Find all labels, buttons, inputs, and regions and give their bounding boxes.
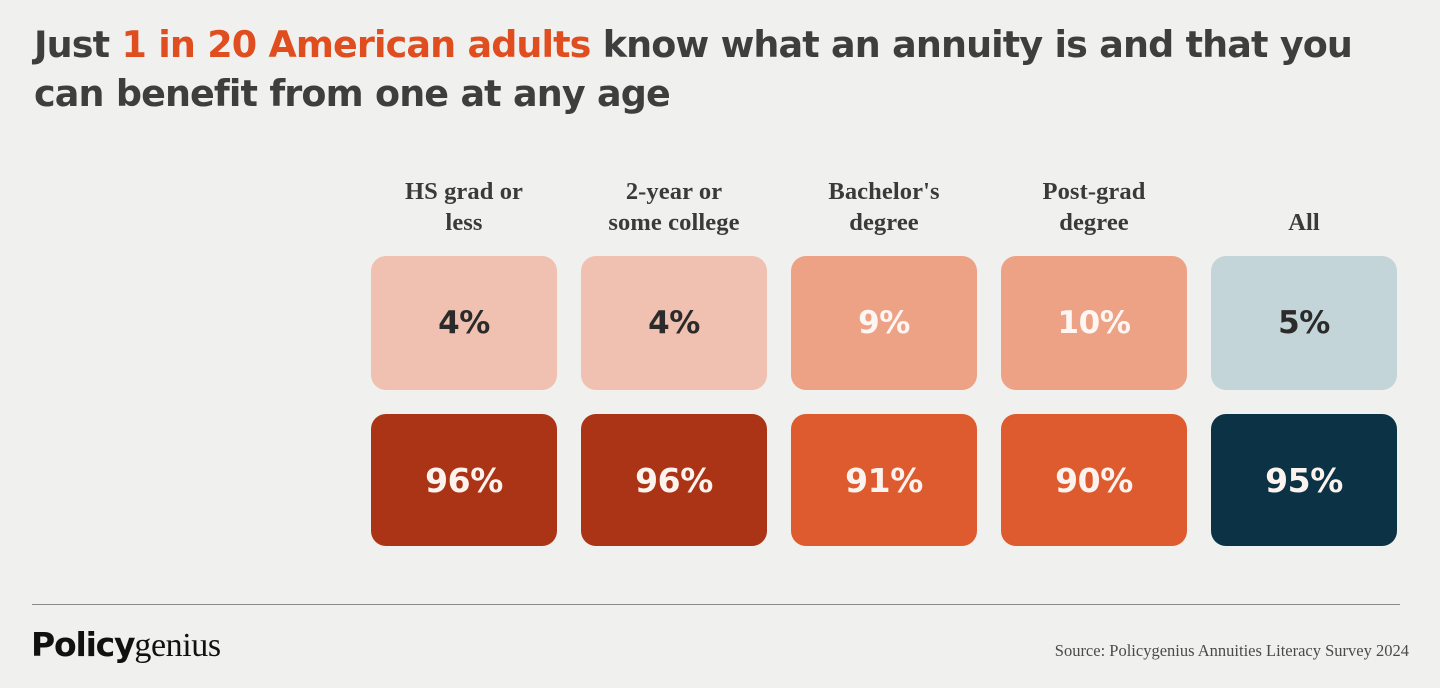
cell-correct-all[interactable]: 5% — [1211, 256, 1397, 390]
column-header-line-2: degree — [1001, 207, 1187, 238]
cell-correct-2-year-or-some-college[interactable]: 4% — [581, 256, 767, 390]
cell-value: 4% — [648, 305, 700, 341]
cell-value: 96% — [425, 461, 503, 500]
cell-value: 96% — [635, 461, 713, 500]
cell-incorrect-post-grad-degree[interactable]: 90% — [1001, 414, 1187, 546]
cell-incorrect-bachelors-degree[interactable]: 91% — [791, 414, 977, 546]
column-header-post-grad-degree: Post-grad degree — [1001, 176, 1187, 238]
policygenius-logo[interactable]: Policygenius — [31, 625, 221, 665]
page-title: Just 1 in 20 American adults know what a… — [34, 20, 1409, 118]
cell-value: 5% — [1278, 305, 1330, 341]
column-header-line-1: Bachelor's — [791, 176, 977, 207]
source-attribution: Source: Policygenius Annuities Literacy … — [1055, 641, 1409, 661]
column-header-line-2: some college — [581, 207, 767, 238]
infographic-canvas: Just 1 in 20 American adults know what a… — [0, 0, 1440, 688]
data-row-incorrect: 96% 96% 91% 90% 95% — [371, 414, 1400, 546]
column-header-line-1: All — [1211, 207, 1397, 238]
column-header-line-2: less — [371, 207, 557, 238]
cell-incorrect-all[interactable]: 95% — [1211, 414, 1397, 546]
cell-correct-bachelors-degree[interactable]: 9% — [791, 256, 977, 390]
cell-value: 10% — [1057, 305, 1130, 341]
title-highlight: 1 in 20 American adults — [121, 23, 590, 66]
logo-bold-part: Policy — [31, 625, 134, 664]
column-header-line-1: 2-year or — [581, 176, 767, 207]
logo-light-part: genius — [134, 627, 220, 664]
column-header-line-2: degree — [791, 207, 977, 238]
column-header-line-1: Post-grad — [1001, 176, 1187, 207]
data-row-correct: 4% 4% 9% 10% 5% — [371, 256, 1400, 390]
column-header-all: All — [1211, 176, 1397, 238]
footer-divider — [32, 604, 1400, 605]
cell-correct-hs-grad-or-less[interactable]: 4% — [371, 256, 557, 390]
cell-value: 95% — [1265, 461, 1343, 500]
column-header-bachelors-degree: Bachelor's degree — [791, 176, 977, 238]
column-header-2-year-or-some-college: 2-year or some college — [581, 176, 767, 238]
cell-correct-post-grad-degree[interactable]: 10% — [1001, 256, 1187, 390]
cell-value: 9% — [858, 305, 910, 341]
column-header-row: HS grad or less 2-year or some college B… — [371, 176, 1400, 238]
cell-value: 91% — [845, 461, 923, 500]
cell-value: 90% — [1055, 461, 1133, 500]
cell-incorrect-2-year-or-some-college[interactable]: 96% — [581, 414, 767, 546]
title-lead: Just — [34, 23, 121, 66]
column-header-line-1: HS grad or — [371, 176, 557, 207]
column-header-hs-grad-or-less: HS grad or less — [371, 176, 557, 238]
cell-incorrect-hs-grad-or-less[interactable]: 96% — [371, 414, 557, 546]
cell-value: 4% — [438, 305, 490, 341]
